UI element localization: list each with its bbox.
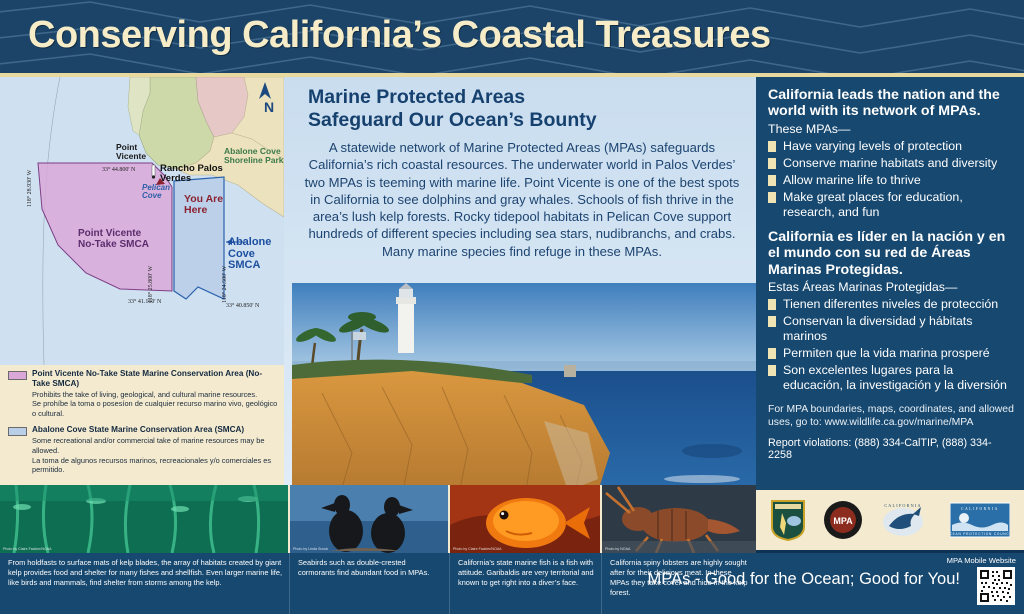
california-marine-sanctuary-foundation-logo-icon: CALIFORNIA — [879, 499, 933, 541]
map-panel: Point Vicente Rancho Palos Verdes Abalon… — [0, 77, 284, 533]
spiny-lobster-graphic — [602, 485, 756, 553]
square-bullet-icon — [768, 365, 776, 376]
list-item-label: Have varying levels of protection — [783, 139, 962, 154]
map-coordinate-west-1: 118° 28.930' W — [27, 170, 33, 207]
svg-text:CALIFORNIA: CALIFORNIA — [885, 503, 922, 508]
sidebar-list-es: Tienen diferentes niveles de protección … — [768, 297, 1014, 393]
legend-item-no-take-smca: Point Vicente No-Take State Marine Conse… — [8, 369, 280, 418]
square-bullet-icon — [768, 141, 776, 152]
map-coordinate-north-2: 33° 41.160' N — [128, 299, 161, 305]
list-item-label: Son excelentes lugares para la educación… — [783, 363, 1014, 393]
sidebar-contact-info[interactable]: For MPA boundaries, maps, coordinates, a… — [768, 403, 1014, 429]
list-item-label: Conserve marine habitats and diversity — [783, 156, 997, 171]
kelp-forest-graphic — [0, 485, 290, 553]
qr-code-icon — [979, 569, 1013, 603]
photo-strip: Photo by Claire Fackler/NOAA Photo by Li… — [0, 485, 756, 553]
la-mpa-collaborative-logo-icon: MPA — [823, 499, 863, 541]
photo-garibaldi: Photo by Claire Fackler/NOAA — [450, 485, 602, 553]
legend-title-smca: Abalone Cove State Marine Conservation A… — [32, 425, 244, 435]
legend-desc-no-take-en: Prohibits the take of living, geological… — [32, 390, 280, 400]
square-bullet-icon — [768, 175, 776, 186]
cdfw-logo-icon — [770, 499, 806, 541]
legend-swatch-smca-icon — [8, 427, 27, 436]
list-item-label: Make great places for education, researc… — [783, 190, 1014, 220]
sidebar-heading-es: California es líder en la nación y en el… — [768, 229, 1014, 278]
sidebar-list-en: Have varying levels of protection Conser… — [768, 139, 1014, 220]
header-banner: Conserving California’s Coastal Treasure… — [0, 0, 1024, 77]
photo-credit: Photo by Claire Fackler/NOAA — [453, 547, 502, 551]
list-item: Permiten que la vida marina prosperé — [768, 346, 1014, 361]
photo-credit: Photo by NOAA — [605, 547, 630, 551]
svg-text:CALIFORNIA: CALIFORNIA — [961, 507, 999, 511]
california-ocean-protection-council-logo-icon: CALIFORNIA OCEAN PROTECTION COUNCIL — [950, 499, 1010, 541]
photo-spiny-lobster: Photo by NOAA — [602, 485, 756, 553]
map-coordinate-west-3: 118° 24.500' W — [222, 266, 228, 303]
caption-cormorants: Seabirds such as double-crested cormoran… — [290, 553, 450, 614]
sidebar-subhead-en: These MPAs— — [768, 122, 1014, 137]
square-bullet-icon — [768, 299, 776, 310]
map-graphic — [0, 77, 284, 365]
footer-tagline: MPAs - Good for the Ocean; Good for You! — [510, 570, 960, 589]
caption-kelp: From holdfasts to surface mats of kelp b… — [0, 553, 290, 614]
photo-cormorants: Photo by Linda Snook — [290, 485, 450, 553]
compass-north-label: N — [256, 99, 282, 115]
sidebar-subhead-es: Estas Áreas Marinas Protegidas— — [768, 280, 1014, 295]
list-item-label: Allow marine life to thrive — [783, 173, 921, 188]
list-item: Allow marine life to thrive — [768, 173, 1014, 188]
list-item-label: Tienen diferentes niveles de protección — [783, 297, 998, 312]
cormorants-graphic — [290, 485, 450, 553]
list-item: Conservan la diversidad y hábitats marin… — [768, 314, 1014, 344]
legend-title-no-take: Point Vicente No-Take State Marine Conse… — [32, 369, 280, 390]
square-bullet-icon — [768, 192, 776, 203]
legend-desc-smca-es: La toma de algunos recursos marinos, rec… — [32, 456, 280, 475]
list-item-label: Permiten que la vida marina prosperé — [783, 346, 990, 361]
map-legend: Point Vicente No-Take State Marine Conse… — [8, 369, 280, 482]
agency-logos: MPA CALIFORNIA CALIFORNIA OCEAN PROTECTI… — [756, 490, 1024, 550]
map-coordinate-north-1: 33° 44.800' N — [102, 167, 135, 173]
map-coordinate-west-2: 118° 25.800' W — [148, 266, 154, 303]
garibaldi-graphic — [450, 485, 602, 553]
qr-label: MPA Mobile Website — [947, 556, 1016, 565]
list-item: Conserve marine habitats and diversity — [768, 156, 1014, 171]
square-bullet-icon — [768, 316, 776, 327]
list-item: Have varying levels of protection — [768, 139, 1014, 154]
legend-swatch-no-take-icon — [8, 371, 27, 380]
svg-text:OCEAN PROTECTION COUNCIL: OCEAN PROTECTION COUNCIL — [950, 532, 1010, 536]
page-title: Conserving California’s Coastal Treasure… — [28, 14, 771, 57]
svg-text:MPA: MPA — [833, 516, 853, 526]
map-coordinate-north-3: 33° 40.850' N — [226, 303, 259, 309]
sidebar-panel: California leads the nation and the worl… — [756, 77, 1024, 533]
main-content: Point Vicente Rancho Palos Verdes Abalon… — [0, 77, 1024, 533]
photo-credit: Photo by Linda Snook — [293, 547, 328, 551]
footer-bar: From holdfasts to surface mats of kelp b… — [0, 553, 1024, 614]
sidebar-heading-en: California leads the nation and the worl… — [768, 87, 1014, 120]
qr-code[interactable] — [977, 567, 1015, 605]
legend-item-smca: Abalone Cove State Marine Conservation A… — [8, 425, 280, 475]
legend-desc-no-take-es: Se prohíbe la toma o posesíon de cualqui… — [32, 399, 280, 418]
mpa-map[interactable]: Point Vicente Rancho Palos Verdes Abalon… — [0, 77, 284, 365]
square-bullet-icon — [768, 158, 776, 169]
sidebar-report-violations[interactable]: Report violations: (888) 334-CalTIP, (88… — [768, 437, 1014, 461]
list-item: Tienen diferentes niveles de protección — [768, 297, 1014, 312]
sidebar-spanish-section: California es líder en la nación y en el… — [768, 229, 1014, 393]
square-bullet-icon — [768, 348, 776, 359]
legend-desc-smca-en: Some recreational and/or commercial take… — [32, 436, 280, 455]
section-body-text: A statewide network of Marine Protected … — [300, 139, 744, 260]
list-item: Son excelentes lugares para la educación… — [768, 363, 1014, 393]
photo-kelp-forest: Photo by Claire Fackler/NOAA — [0, 485, 290, 553]
center-panel: Marine Protected Areas Safeguard Our Oce… — [284, 77, 756, 533]
tagline-zone: MPA Mobile Website MPAs - Good for the O… — [756, 553, 1024, 614]
list-item: Make great places for education, researc… — [768, 190, 1014, 220]
section-heading: Marine Protected Areas Safeguard Our Oce… — [308, 86, 597, 131]
photo-credit: Photo by Claire Fackler/NOAA — [3, 547, 52, 551]
list-item-label: Conservan la diversidad y hábitats marin… — [783, 314, 1014, 344]
north-arrow-icon: N — [256, 81, 282, 125]
